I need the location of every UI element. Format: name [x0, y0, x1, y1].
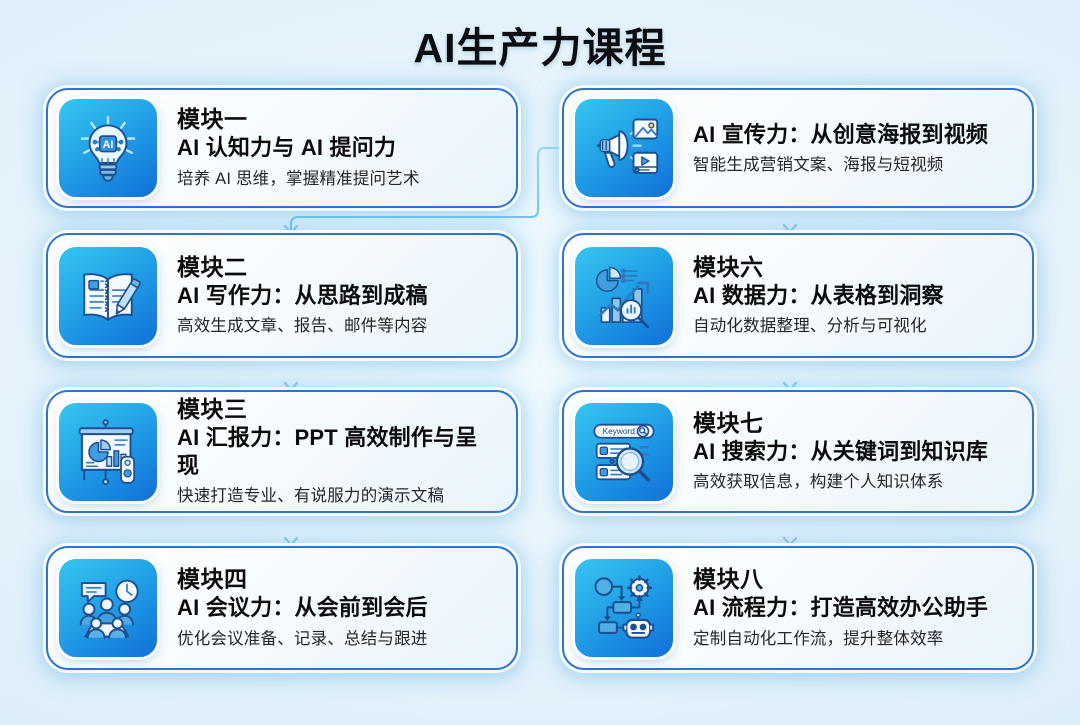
module-card-3[interactable]: 模块三 AI 汇报力：PPT 高效制作与呈现 快速打造专业、有说服力的演示文稿: [46, 390, 518, 513]
infographic-canvas: AI生产力课程: [0, 0, 1080, 725]
card-text-2: 模块二 AI 写作力：从思路到成稿 高效生成文章、报告、邮件等内容: [157, 254, 434, 338]
meeting-people-icon: [59, 559, 157, 657]
module-subtitle: 自动化数据整理、分析与可视化: [693, 315, 944, 337]
module-card-2[interactable]: 模块二 AI 写作力：从思路到成稿 高效生成文章、报告、邮件等内容: [46, 233, 518, 358]
module-title: AI 流程力：打造高效办公助手: [693, 594, 988, 622]
module-label: 模块八: [693, 566, 988, 593]
module-card-1[interactable]: AI 模块一 AI 认知力与 AI 提问力 培养 AI 思维，掌握精准提问艺术: [46, 88, 518, 208]
module-title: AI 会议力：从会前到会后: [177, 594, 428, 622]
module-title: AI 汇报力：PPT 高效制作与呈现: [177, 424, 496, 480]
page-title: AI生产力课程: [0, 14, 1080, 74]
module-card-6[interactable]: 模块六 AI 数据力：从表格到洞察 自动化数据整理、分析与可视化: [562, 233, 1034, 358]
module-card-4[interactable]: 模块四 AI 会议力：从会前到会后 优化会议准备、记录、总结与跟进: [46, 546, 518, 670]
keyword-placeholder-text: Keyword...: [603, 426, 642, 436]
arrowhead-to-card2: [285, 226, 297, 233]
arrowhead-to-card3: [285, 383, 297, 390]
module-title: AI 搜索力：从关键词到知识库: [693, 438, 988, 466]
module-label: 模块七: [693, 410, 988, 437]
megaphone-media-icon: [575, 99, 673, 197]
lightbulb-ai-icon: AI: [59, 99, 157, 197]
card-text-7: 模块七 AI 搜索力：从关键词到知识库 高效获取信息，构建个人知识体系: [673, 410, 994, 494]
arrowhead-to-card7: [784, 383, 796, 390]
module-label: 模块六: [693, 254, 944, 281]
module-subtitle: 高效生成文章、报告、邮件等内容: [177, 315, 428, 337]
module-title: AI 写作力：从思路到成稿: [177, 282, 428, 310]
module-label: 模块一: [177, 106, 420, 133]
module-title: AI 数据力：从表格到洞察: [693, 282, 944, 310]
module-subtitle: 高效获取信息，构建个人知识体系: [693, 471, 988, 493]
module-label: 模块二: [177, 254, 428, 281]
module-label: 模块三: [177, 396, 496, 423]
module-title: AI 认知力与 AI 提问力: [177, 134, 420, 162]
search-knowledge-icon: Keyword...: [575, 403, 673, 501]
module-label: 模块四: [177, 566, 428, 593]
module-title: AI 宣传力：从创意海报到视频: [693, 121, 988, 149]
presentation-screen-icon: [59, 403, 157, 501]
card-text-3: 模块三 AI 汇报力：PPT 高效制作与呈现 快速打造专业、有说服力的演示文稿: [157, 396, 502, 508]
module-card-8[interactable]: 模块八 AI 流程力：打造高效办公助手 定制自动化工作流，提升整体效率: [562, 546, 1034, 670]
module-subtitle: 快速打造专业、有说服力的演示文稿: [177, 485, 496, 507]
arrowhead-to-card8: [784, 538, 796, 545]
module-subtitle: 优化会议准备、记录、总结与跟进: [177, 628, 428, 650]
arrowhead-to-card4: [285, 538, 297, 545]
module-card-5[interactable]: AI 宣传力：从创意海报到视频 智能生成营销文案、海报与短视频: [562, 88, 1034, 208]
card-text-4: 模块四 AI 会议力：从会前到会后 优化会议准备、记录、总结与跟进: [157, 566, 434, 650]
card-text-8: 模块八 AI 流程力：打造高效办公助手 定制自动化工作流，提升整体效率: [673, 566, 994, 650]
module-subtitle: 培养 AI 思维，掌握精准提问艺术: [177, 168, 420, 190]
card-text-1: 模块一 AI 认知力与 AI 提问力 培养 AI 思维，掌握精准提问艺术: [157, 106, 426, 190]
module-subtitle: 定制自动化工作流，提升整体效率: [693, 628, 988, 650]
chart-analytics-icon: [575, 247, 673, 345]
svg-text:AI: AI: [103, 139, 114, 151]
card-text-5: AI 宣传力：从创意海报到视频 智能生成营销文案、海报与短视频: [673, 120, 994, 176]
module-subtitle: 智能生成营销文案、海报与短视频: [693, 154, 988, 176]
workflow-robot-icon: [575, 559, 673, 657]
module-card-7[interactable]: Keyword... 模块七 AI: [562, 390, 1034, 513]
arrowhead-to-card6: [784, 225, 796, 232]
notebook-pen-icon: [59, 247, 157, 345]
card-text-6: 模块六 AI 数据力：从表格到洞察 自动化数据整理、分析与可视化: [673, 254, 950, 338]
